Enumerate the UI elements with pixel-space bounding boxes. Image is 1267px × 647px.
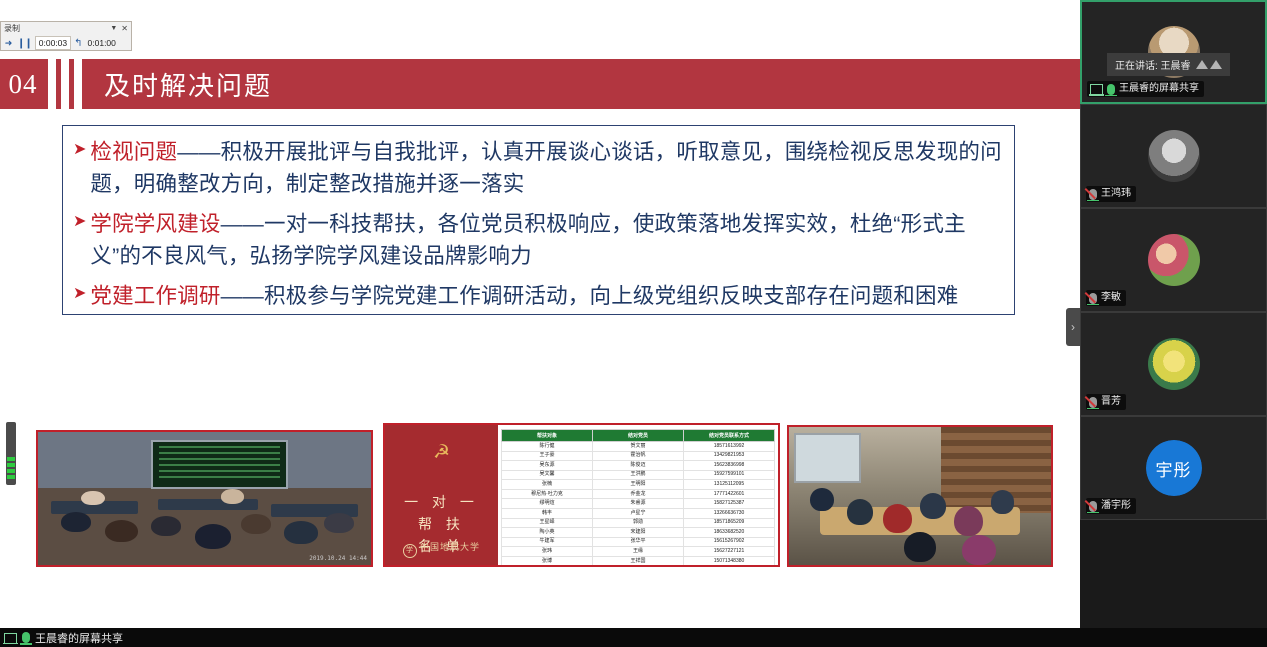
bullet-keyword: 检视问题 xyxy=(90,140,177,164)
table-cell: 陈行健 xyxy=(502,442,593,452)
close-icon[interactable]: ✕ xyxy=(121,24,128,33)
pairing-list-title-line: 帮 扶 xyxy=(385,513,498,535)
table-row: 陈行健贺文丽18571613992 xyxy=(502,442,775,452)
avatar-initials: 宇彤 xyxy=(1146,440,1202,496)
table-row: 王子豪霍治帆13429821953 xyxy=(502,451,775,461)
pairing-list-table: 帮扶对象结对党员结对党员联系方式 陈行健贺文丽18571613992王子豪霍治帆… xyxy=(501,429,775,567)
participant-namebar: 晋芳 xyxy=(1086,394,1126,410)
participant-tile[interactable]: 王鸿玮 xyxy=(1080,104,1267,208)
table-cell: 王子豪 xyxy=(502,451,593,461)
avatar xyxy=(1148,234,1200,286)
table-cell: 13266636730 xyxy=(684,509,775,519)
table-row: 胡钰景丁宇文15623066936 xyxy=(502,566,775,567)
zoom-meeting-window: 录制 ▼ ✕ ➜ ❙❙ 0:00:03 ↰ 0:01:00 04 及时解决问题 xyxy=(0,0,1267,647)
participant-namebar: 王鸿玮 xyxy=(1086,186,1136,202)
table-cell: 15623836998 xyxy=(684,461,775,471)
table-cell: 15927599101 xyxy=(684,470,775,480)
recording-controls[interactable]: ➜ ❙❙ 0:00:03 ↰ 0:01:00 xyxy=(1,35,131,51)
table-row: 吴文馨王洪鹏15927599101 xyxy=(502,470,775,480)
table-row: 陶小英宋建阳18633682520 xyxy=(502,528,775,538)
table-cell: 王缘 xyxy=(593,547,684,557)
table-column-header: 帮扶对象 xyxy=(502,430,593,442)
hammer-sickle-icon: ☭ xyxy=(433,441,450,464)
university-name: 中国地质大学 xyxy=(420,542,480,552)
bottom-status-bar: 王晨睿的屏幕共享 xyxy=(0,628,1267,647)
table-row: 牛建军张华平15615267902 xyxy=(502,537,775,547)
microphone-muted-icon xyxy=(1089,189,1097,200)
table-cell: 卢星宁 xyxy=(593,509,684,519)
table-cell: 胡钰景 xyxy=(502,566,593,567)
table-cell: 贺文丽 xyxy=(593,442,684,452)
table-cell: 15615267902 xyxy=(684,537,775,547)
slide-header-bars xyxy=(48,59,82,109)
bullet-keyword: 党建工作调研 xyxy=(90,284,220,308)
recording-toolbar-titlebar: 录制 ▼ ✕ xyxy=(1,22,131,35)
microphone-icon xyxy=(1107,84,1115,95)
avatar xyxy=(1148,130,1200,182)
table-cell: 霍治帆 xyxy=(593,451,684,461)
bullet-marker-icon: ➤ xyxy=(73,136,86,164)
table-cell: 陶小英 xyxy=(502,528,593,538)
caret-down-icon[interactable]: ▼ xyxy=(110,25,117,32)
table-cell: 丁宇文 xyxy=(593,566,684,567)
slide-header: 04 及时解决问题 xyxy=(0,59,1080,109)
pairing-list-photo: ☭ 一 对 一 帮 扶 名 单 学中国地质大学 帮扶对象结对党员结对党员联系方式 xyxy=(383,423,780,567)
avatar: 宇彤 xyxy=(1146,440,1202,496)
table-cell: 15627227121 xyxy=(684,547,775,557)
pause-icon[interactable]: ❙❙ xyxy=(17,38,32,49)
participant-name: 王鸿玮 xyxy=(1101,187,1131,201)
speaking-indicator-label: 正在讲话: 王晨睿 xyxy=(1115,57,1191,72)
table-cell: 缪明煊 xyxy=(502,499,593,509)
table-cell: 18571613992 xyxy=(684,442,775,452)
bullet-item: ➤ 检视问题——积极开展批评与自我批评，认真开展谈心谈话，听取意见，围绕检视反思… xyxy=(73,136,1004,200)
table-cell: 牛建军 xyxy=(502,537,593,547)
table-cell: 宋建阳 xyxy=(593,528,684,538)
participant-name: 潘宇彤 xyxy=(1101,499,1131,513)
bullet-marker-icon: ➤ xyxy=(73,208,86,236)
participant-name: 晋芳 xyxy=(1101,395,1121,409)
bullet-item: ➤ 学院学风建设——一对一科技帮扶，各位党员积极响应，使政策落地发挥实效，杜绝“… xyxy=(73,208,1004,272)
table-row: 张楠王明阳13125112095 xyxy=(502,480,775,490)
slide-title: 及时解决问题 xyxy=(104,66,272,103)
participant-name: 李敏 xyxy=(1101,291,1121,305)
chevron-right-icon[interactable]: › xyxy=(1066,308,1080,346)
audio-level-meter xyxy=(6,422,16,485)
participant-namebar: 王晨睿的屏幕共享 xyxy=(1087,81,1204,97)
table-header-row: 帮扶对象结对党员结对党员联系方式 xyxy=(502,430,775,442)
table-cell: 韩丰 xyxy=(502,509,593,519)
bullet-body: ——积极开展批评与自我批评，认真开展谈心谈话，听取意见，围绕检视反思发现的问题，… xyxy=(90,140,1001,196)
table-cell: 陈俊迈 xyxy=(593,461,684,471)
table-cell: 18571865209 xyxy=(684,518,775,528)
table-row: 王星峄郭勋18571865209 xyxy=(502,518,775,528)
table-column-header: 结对党员 xyxy=(593,430,684,442)
table-cell: 王洪鹏 xyxy=(593,470,684,480)
undo-icon[interactable]: ↰ xyxy=(74,38,82,49)
bullet-body: ——一对一科技帮扶，各位党员积极响应，使政策落地发挥实效，杜绝“形式主义”的不良… xyxy=(90,212,965,268)
table-cell: 郭勋 xyxy=(593,518,684,528)
table-cell: 吴东源 xyxy=(502,461,593,471)
university-seal-icon: 学 xyxy=(403,544,417,558)
shared-screen-area: 录制 ▼ ✕ ➜ ❙❙ 0:00:03 ↰ 0:01:00 04 及时解决问题 xyxy=(0,0,1080,628)
pairing-list-title-line: 一 对 一 xyxy=(385,491,498,513)
slide-section-number: 04 xyxy=(0,69,46,100)
table-cell: 吴文馨 xyxy=(502,470,593,480)
bullet-item: ➤ 党建工作调研——积极参与学院党建工作调研活动，向上级党组织反映支部存在问题和… xyxy=(73,280,1004,312)
pairing-list-cover: ☭ 一 对 一 帮 扶 名 单 学中国地质大学 xyxy=(385,425,498,565)
table-cell: 15623066936 xyxy=(684,566,775,567)
bottom-status-label: 王晨睿的屏幕共享 xyxy=(35,630,123,646)
university-logo: 学中国地质大学 xyxy=(385,540,498,558)
participant-tile[interactable]: 李敏 xyxy=(1080,208,1267,312)
table-cell: 王明阳 xyxy=(593,480,684,490)
classroom-lecture-photo: 2019.10.24 14:44 xyxy=(36,430,373,567)
presentation-slide: 04 及时解决问题 ➤ 检视问题——积极开展批评与自我批评，认真开展谈心谈话，听… xyxy=(0,51,1080,628)
table-row: 穆尼热·吐力克乔金龙17771422601 xyxy=(502,489,775,499)
recording-total-time: 0:01:00 xyxy=(86,38,118,48)
recording-toolbar-title: 录制 xyxy=(4,23,110,34)
meeting-room-photo xyxy=(787,425,1053,567)
microphone-muted-icon xyxy=(1089,397,1097,408)
table-cell: 17771422601 xyxy=(684,489,775,499)
bullet-text: 检视问题——积极开展批评与自我批评，认真开展谈心谈话，听取意见，围绕检视反思发现… xyxy=(90,136,1004,200)
bullet-keyword: 学院学风建设 xyxy=(90,212,220,236)
participant-namebar: 潘宇彤 xyxy=(1086,498,1136,514)
slide-body-box: ➤ 检视问题——积极开展批评与自我批评，认真开展谈心谈话，听取意见，围绕检视反思… xyxy=(62,125,1015,315)
table-cell: 13429821953 xyxy=(684,451,775,461)
microphone-icon xyxy=(22,632,30,643)
audio-wave-icon xyxy=(1196,60,1222,69)
table-cell: 张华平 xyxy=(593,537,684,547)
participant-rail: 王晨睿的屏幕共享 王鸿玮 李敏 晋芳 宇彤 xyxy=(1080,0,1267,628)
table-cell: 乔金龙 xyxy=(593,489,684,499)
speaking-indicator-tooltip: 正在讲话: 王晨睿 xyxy=(1107,53,1230,76)
bullet-body: ——积极参与学院党建工作调研活动，向上级党组织反映支部存在问题和困难 xyxy=(221,284,959,308)
microphone-muted-icon xyxy=(1089,293,1097,304)
microphone-muted-icon xyxy=(1089,501,1097,512)
participant-tile-active[interactable]: 王晨睿的屏幕共享 xyxy=(1080,0,1267,104)
recording-toolbar[interactable]: 录制 ▼ ✕ ➜ ❙❙ 0:00:03 ↰ 0:01:00 xyxy=(0,21,132,51)
table-cell: 王星峄 xyxy=(502,518,593,528)
table-cell: 穆尼热·吐力克 xyxy=(502,489,593,499)
screen-share-icon xyxy=(1090,84,1103,94)
bullet-text: 党建工作调研——积极参与学院党建工作调研活动，向上级党组织反映支部存在问题和困难 xyxy=(90,280,958,312)
screen-share-icon xyxy=(4,633,17,643)
table-cell: 王祥国 xyxy=(593,556,684,566)
table-cell: 朱睿源 xyxy=(593,499,684,509)
bullet-text: 学院学风建设——一对一科技帮扶，各位党员积极响应，使政策落地发挥实效，杜绝“形式… xyxy=(90,208,1004,272)
participant-name: 王晨睿的屏幕共享 xyxy=(1119,82,1199,96)
table-row: 吴东源陈俊迈15623836998 xyxy=(502,461,775,471)
table-row: 韩丰卢星宁13266636730 xyxy=(502,509,775,519)
pairing-list-table-wrap: 帮扶对象结对党员结对党员联系方式 陈行健贺文丽18571613992王子豪霍治帆… xyxy=(498,425,778,565)
table-row: 缪明煊朱睿源15827125387 xyxy=(502,499,775,509)
recording-elapsed-time: 0:00:03 xyxy=(35,36,71,50)
photo-timestamp: 2019.10.24 14:44 xyxy=(309,555,367,562)
resume-arrow-icon[interactable]: ➜ xyxy=(3,38,14,49)
participant-tile[interactable]: 晋芳 xyxy=(1080,312,1267,416)
slide-photo-strip: 2019.10.24 14:44 ☭ 一 对 一 帮 扶 名 单 xyxy=(0,351,1080,591)
table-cell: 张玮 xyxy=(502,547,593,557)
table-cell: 15827125387 xyxy=(684,499,775,509)
avatar xyxy=(1148,338,1200,390)
table-cell: 张博 xyxy=(502,556,593,566)
table-cell: 15071348380 xyxy=(684,556,775,566)
table-row: 张玮王缘15627227121 xyxy=(502,547,775,557)
table-cell: 张楠 xyxy=(502,480,593,490)
table-cell: 13125112095 xyxy=(684,480,775,490)
participant-namebar: 李敏 xyxy=(1086,290,1126,306)
table-row: 张博王祥国15071348380 xyxy=(502,556,775,566)
participant-tile[interactable]: 宇彤 潘宇彤 xyxy=(1080,416,1267,520)
bullet-marker-icon: ➤ xyxy=(73,280,86,308)
table-column-header: 结对党员联系方式 xyxy=(684,430,775,442)
table-cell: 18633682520 xyxy=(684,528,775,538)
